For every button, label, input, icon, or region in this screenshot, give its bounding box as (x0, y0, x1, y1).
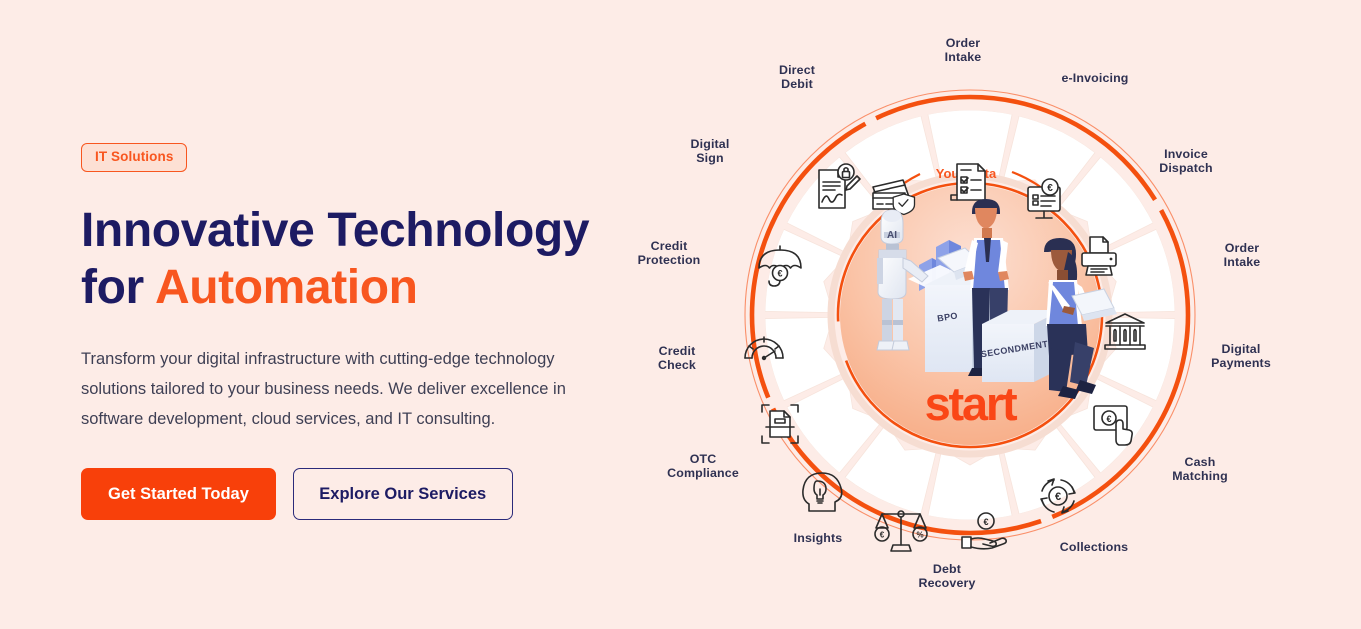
segment-label-cash-matching: Cash Matching (1172, 455, 1228, 483)
svg-text:Direct: Direct (779, 63, 815, 77)
svg-text:Collections: Collections (1060, 540, 1128, 554)
hero-content: IT Solutions Innovative Technology for A… (81, 143, 601, 520)
segment-label-order-intake-top: Order Intake (945, 36, 982, 64)
svg-text:Insights: Insights (794, 531, 843, 545)
svg-text:Credit: Credit (659, 344, 696, 358)
svg-text:%: % (916, 531, 923, 540)
svg-text:Dispatch: Dispatch (1159, 161, 1213, 175)
segment-label-insights: Insights (794, 531, 843, 545)
svg-text:Compliance: Compliance (667, 466, 739, 480)
svg-text:€: € (880, 531, 885, 540)
headline-line-2-accent: Automation (155, 261, 418, 314)
svg-text:Digital: Digital (1222, 342, 1261, 356)
segment-label-credit-check: Credit Check (658, 344, 696, 372)
start-brand-logo: start (925, 377, 1018, 430)
svg-text:Debit: Debit (781, 77, 813, 91)
svg-text:Order: Order (946, 36, 981, 50)
segment-label-order-intake-right: Order Intake (1224, 241, 1261, 269)
cta-button-group: Get Started Today Explore Our Services (81, 468, 601, 521)
svg-text:Intake: Intake (945, 50, 982, 64)
segment-label-credit-protection: Credit Protection (638, 239, 701, 267)
svg-text:Invoice: Invoice (1164, 147, 1208, 161)
segment-label-debt-recovery: Debt Recovery (919, 562, 976, 590)
segment-label-e-invoicing: e-Invoicing (1061, 71, 1128, 85)
credit-card-shield-icon (873, 180, 915, 215)
svg-text:Cash: Cash (1185, 455, 1216, 469)
svg-text:Payments: Payments (1211, 356, 1271, 370)
svg-text:e-Invoicing: e-Invoicing (1061, 71, 1128, 85)
svg-text:Intake: Intake (1224, 255, 1261, 269)
hero-description: Transform your digital infrastructure wi… (81, 344, 581, 434)
wheel-segment[interactable] (928, 449, 1012, 520)
svg-text:OTC: OTC (690, 452, 717, 466)
svg-text:€: € (777, 269, 782, 279)
hero-section: IT Solutions Innovative Technology for A… (0, 0, 1361, 629)
segment-label-invoice-dispatch: Invoice Dispatch (1159, 147, 1213, 175)
process-wheel-diagram: Your Data (620, 0, 1361, 629)
svg-text:Check: Check (658, 358, 696, 372)
svg-text:Debt: Debt (933, 562, 961, 576)
scales-balance-icon: € % (875, 511, 927, 551)
it-solutions-badge: IT Solutions (81, 143, 187, 172)
svg-text:Order: Order (1225, 241, 1260, 255)
segment-label-direct-debit: Direct Debit (779, 63, 815, 91)
svg-text:Matching: Matching (1172, 469, 1228, 483)
segment-label-digital-sign: Digital Sign (691, 137, 730, 165)
svg-text:€: € (983, 517, 988, 527)
svg-text:€: € (1047, 183, 1053, 194)
svg-text:€: € (1055, 491, 1061, 503)
get-started-button[interactable]: Get Started Today (81, 468, 276, 521)
svg-text:Sign: Sign (696, 151, 723, 165)
segment-label-digital-payments: Digital Payments (1211, 342, 1271, 370)
segment-label-collections: Collections (1060, 540, 1128, 554)
headline-line-1: Innovative Technology (81, 204, 589, 257)
explore-services-button[interactable]: Explore Our Services (293, 468, 513, 519)
segment-label-otc-compliance: OTC Compliance (667, 452, 739, 480)
svg-text:€: € (1106, 414, 1111, 424)
svg-text:Digital: Digital (691, 137, 730, 151)
svg-text:Credit: Credit (651, 239, 688, 253)
head-lightbulb-icon (803, 473, 842, 511)
page-title: Innovative Technology for Automation (81, 202, 601, 316)
headline-line-2-prefix: for (81, 261, 155, 314)
svg-text:Protection: Protection (638, 253, 701, 267)
svg-text:Recovery: Recovery (919, 576, 976, 590)
robot-ai-label: AI (887, 230, 897, 241)
